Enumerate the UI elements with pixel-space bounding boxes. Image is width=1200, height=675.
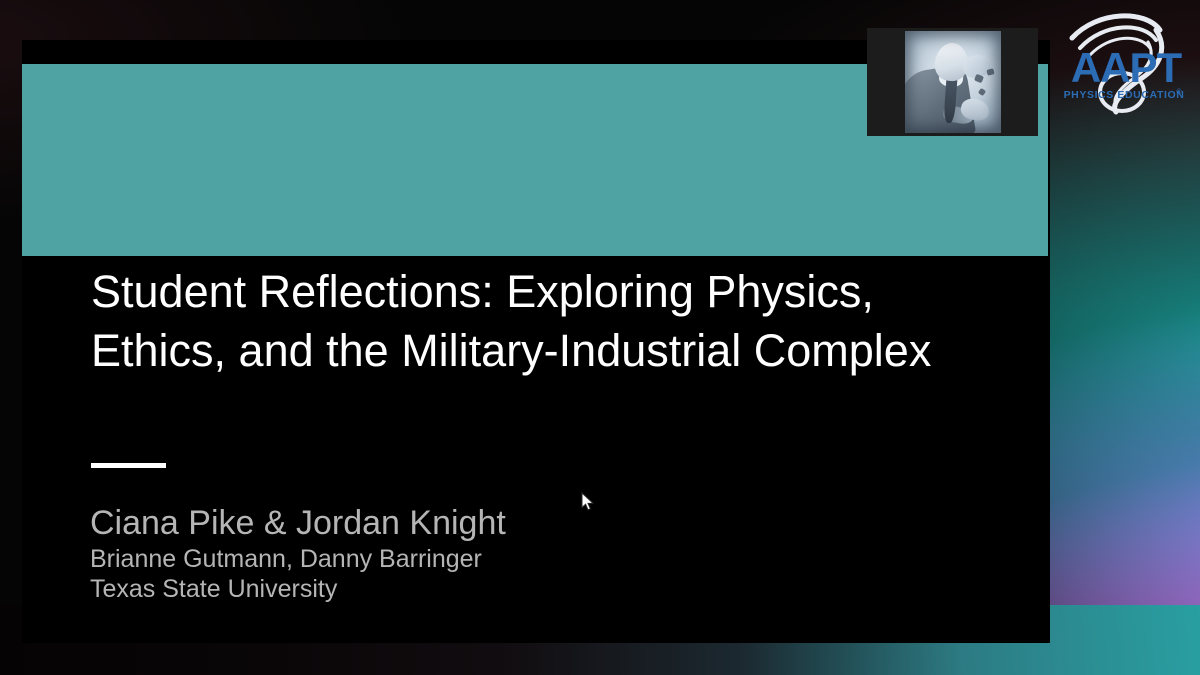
aapt-tagline: PHYSICS EDUCATION [1064, 89, 1184, 101]
mouse-cursor [581, 492, 595, 512]
webcam-vignette [905, 31, 1001, 133]
speaker-webcam-thumbnail[interactable] [867, 28, 1038, 136]
authors-secondary-line-1: Brianne Gutmann, Danny Barringer [90, 544, 850, 574]
aapt-logo-svg: AAPT PHYSICS EDUCATION ® [1064, 8, 1188, 116]
slide-authors-block: Ciana Pike & Jordan Knight Brianne Gutma… [90, 502, 850, 604]
slide-title: Student Reflections: Exploring Physics, … [91, 262, 991, 380]
slide-divider-rule [91, 463, 166, 468]
screen: Student Reflections: Exploring Physics, … [0, 0, 1200, 675]
authors-primary: Ciana Pike & Jordan Knight [90, 502, 850, 544]
cursor-arrow-icon [581, 492, 595, 512]
aapt-wordmark: AAPT [1071, 44, 1183, 91]
aapt-registered-mark: ® [1176, 88, 1182, 96]
webcam-video-feed [905, 31, 1001, 133]
authors-secondary-line-2: Texas State University [90, 574, 850, 604]
aapt-logo: AAPT PHYSICS EDUCATION ® [1064, 8, 1188, 116]
